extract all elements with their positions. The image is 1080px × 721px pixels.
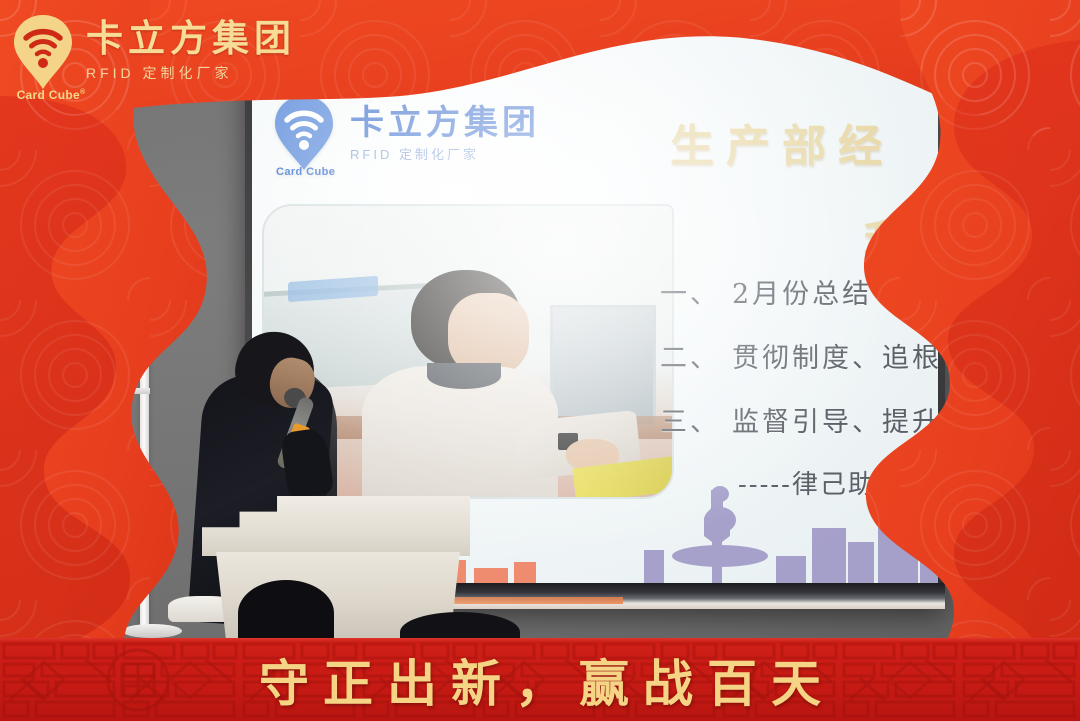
wifi-pin-logo-icon: Card Cube [272, 94, 336, 172]
audience-member [238, 580, 334, 646]
brand-mark-text: Card Cube [17, 88, 80, 102]
bullet-marker: 一、 [660, 279, 720, 310]
slide-brand-cn: 卡立方集团 [350, 106, 540, 140]
slide-bullet-3: 三、监督引导、提升品质 [660, 400, 938, 439]
screenshot-root: Card Cube 卡立方集团 RFID 定制化厂家 [0, 0, 1080, 721]
bullet-text: 贯彻制度、追根 [732, 343, 938, 374]
bullet-marker: 二、 [660, 343, 720, 374]
header-brand-text: 卡立方集团 RFID 定制化厂家 [86, 20, 296, 84]
slogan-text: 守正出新，赢战百天 [0, 638, 1080, 721]
white-stand-vertical [140, 196, 149, 634]
bullet-marker: 三、 [660, 407, 720, 438]
white-stand-base [122, 624, 182, 638]
header-brand-lockup: Card Cube® 卡立方集团 RFID 定制化厂家 [12, 14, 296, 90]
header-brand-sub: RFID 定制化厂家 [86, 66, 296, 80]
slide-logo: Card Cube 卡立方集团 RFID 定制化厂家 [272, 94, 540, 172]
event-photo: Card Cube 卡立方集团 RFID 定制化厂家 [0, 0, 1080, 721]
slide-title-line2: 利 [864, 206, 908, 270]
header-brand-mark: Card Cube® [12, 88, 90, 102]
header-brand-cn: 卡立方集团 [86, 20, 296, 57]
bullet-text: 2月份总结 [732, 279, 872, 310]
registered-mark-icon: ® [80, 89, 85, 96]
slide-bullet-2: 二、贯彻制度、追根 [660, 336, 938, 375]
slide-title-line1: 生产部经 [670, 110, 938, 174]
white-stand-bar-top [96, 199, 150, 206]
white-stand-bar-mid [96, 388, 150, 394]
slide-brand-mark: Card Cube [276, 166, 335, 178]
bullet-text: 监督引导、提升品质 [732, 407, 938, 438]
wifi-pin-logo-icon: Card Cube® [12, 14, 74, 90]
slide-brand-text: 卡立方集团 RFID 定制化厂家 [350, 106, 540, 161]
dark-foreground-left [0, 560, 30, 646]
slide-bullet-1: 一、2月份总结 [660, 272, 938, 311]
slogan-banner: 守正出新，赢战百天 [0, 638, 1080, 721]
slide-brand-sub: RFID 定制化厂家 [350, 148, 540, 161]
